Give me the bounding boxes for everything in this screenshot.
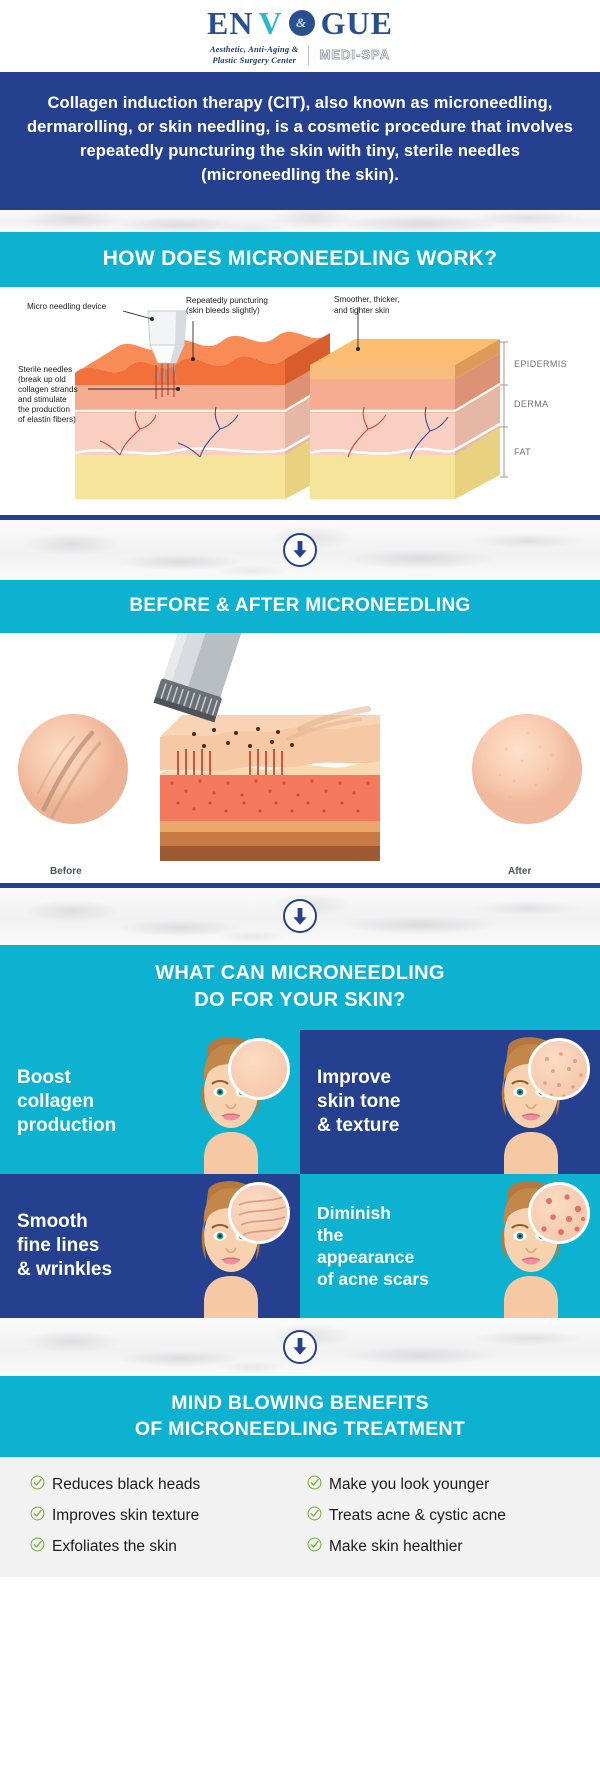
list-item-label: Improves skin texture — [52, 1507, 199, 1525]
skin-zoom-bubble-pores — [528, 1038, 590, 1100]
list-item-label: Exfoliates the skin — [52, 1538, 177, 1556]
section-heading-line2: OF MICRONEEDLING TREATMENT — [14, 1416, 586, 1442]
logo-monogram-icon: & — [289, 10, 315, 36]
section-heading-line2: DO FOR YOUR SKIN? — [14, 987, 586, 1014]
logo-tagline-line2: Plastic Surgery Center — [210, 55, 299, 66]
benefits-checklist: Reduces black heads Make you look younge… — [0, 1457, 600, 1577]
check-circle-icon — [30, 1506, 45, 1526]
caption-after: After — [508, 866, 531, 877]
label-derma: DERMA — [514, 399, 549, 409]
brand-header: EN V & GUE Aesthetic, Anti-Aging & Plast… — [0, 0, 600, 72]
caption-before: Before — [50, 866, 82, 877]
list-item-label: Make skin healthier — [329, 1538, 463, 1556]
down-arrow-icon[interactable] — [283, 533, 317, 567]
benefit-line-3: & texture — [317, 1114, 400, 1138]
scroll-arrow-3[interactable] — [0, 1318, 600, 1376]
section-heading-how-it-works: HOW DOES MICRONEEDLING WORK? — [0, 232, 600, 287]
marble-divider-1 — [0, 210, 600, 232]
marble-divider-3 — [0, 888, 600, 945]
marble-divider-2 — [0, 520, 600, 580]
list-item: Reduces black heads — [30, 1475, 297, 1495]
before-after-svg — [0, 633, 600, 883]
benefit-line-2: collagen — [17, 1090, 116, 1114]
benefit-line-1: Diminish — [317, 1202, 429, 1224]
logo-subtitle-row: Aesthetic, Anti-Aging & Plastic Surgery … — [207, 44, 393, 66]
benefit-card-diminish-acne-scars[interactable]: Diminish the appearance of acne scars — [300, 1174, 600, 1318]
benefit-card-improve-skin-tone[interactable]: Improve skin tone & texture — [300, 1030, 600, 1174]
scroll-arrow-2[interactable] — [0, 888, 600, 945]
label-smoother-skin-2: and tighter skin — [334, 306, 390, 317]
benefit-line-3: & wrinkles — [17, 1258, 112, 1282]
benefit-line-2: fine lines — [17, 1234, 112, 1258]
benefit-line-4: of acne scars — [317, 1268, 429, 1290]
benefit-line-2: the — [317, 1224, 429, 1246]
list-item: Make skin healthier — [307, 1537, 574, 1557]
skin-diagram-svg — [0, 287, 600, 515]
benefit-line-1: Improve — [317, 1066, 400, 1090]
label-sterile-needles-6: of elastin fibers) — [18, 415, 76, 426]
label-fat: FAT — [514, 447, 531, 457]
benefit-line-1: Smooth — [17, 1210, 112, 1234]
list-item-label: Reduces black heads — [52, 1476, 200, 1494]
list-item-label: Make you look younger — [329, 1476, 489, 1494]
logo-tagline-line1: Aesthetic, Anti-Aging & — [210, 44, 299, 55]
benefit-card-smooth-fine-lines[interactable]: Smooth fine lines & wrinkles — [0, 1174, 300, 1318]
benefits-checklist-grid: Reduces black heads Make you look younge… — [0, 1475, 600, 1557]
logo-wordmark: EN V & GUE — [207, 7, 393, 39]
marble-divider-4 — [0, 1318, 600, 1376]
skin-zoom-bubble-acne — [528, 1182, 590, 1244]
label-repeatedly-puncturing-2: (skin bleeds slightly) — [186, 306, 260, 317]
list-item: Treats acne & cystic acne — [307, 1506, 574, 1526]
check-circle-icon — [30, 1537, 45, 1557]
check-circle-icon — [307, 1475, 322, 1495]
benefit-card-label: Diminish the appearance of acne scars — [300, 1202, 429, 1290]
section-heading-line1: WHAT CAN MICRONEEDLING — [14, 960, 586, 987]
logo-text-gue: GUE — [321, 7, 393, 39]
section-heading-line1: MIND BLOWING BENEFITS — [14, 1390, 586, 1416]
down-arrow-icon[interactable] — [283, 1330, 317, 1364]
benefit-line-2: skin tone — [317, 1090, 400, 1114]
benefit-cards-grid: Boost collagen production — [0, 1030, 600, 1318]
label-smoother-skin-1: Smoother, thicker, — [334, 295, 400, 306]
section-heading-mind-blowing-benefits: MIND BLOWING BENEFITS OF MICRONEEDLING T… — [0, 1376, 600, 1458]
benefit-line-3: production — [17, 1114, 116, 1138]
benefit-card-label: Boost collagen production — [0, 1066, 116, 1138]
infographic-page: EN V & GUE Aesthetic, Anti-Aging & Plast… — [0, 0, 600, 1780]
logo-tagline: Aesthetic, Anti-Aging & Plastic Surgery … — [210, 44, 299, 66]
list-item: Exfoliates the skin — [30, 1537, 297, 1557]
logo: EN V & GUE Aesthetic, Anti-Aging & Plast… — [207, 7, 393, 66]
list-item-label: Treats acne & cystic acne — [329, 1507, 506, 1525]
section-heading-what-can-do: WHAT CAN MICRONEEDLING DO FOR YOUR SKIN? — [0, 945, 600, 1030]
logo-text-v: V — [259, 7, 283, 39]
down-arrow-icon[interactable] — [283, 899, 317, 933]
label-micro-needling-device: Micro needling device — [27, 302, 106, 313]
before-after-illustration: Before After — [0, 633, 600, 883]
check-circle-icon — [30, 1475, 45, 1495]
check-circle-icon — [307, 1537, 322, 1557]
label-epidermis: EPIDERMIS — [514, 359, 567, 369]
check-circle-icon — [307, 1506, 322, 1526]
benefit-card-label: Improve skin tone & texture — [300, 1066, 400, 1138]
scroll-arrow-1[interactable] — [0, 520, 600, 580]
skin-zoom-bubble-smooth — [228, 1038, 290, 1100]
benefit-line-1: Boost — [17, 1066, 116, 1090]
intro-paragraph: Collagen induction therapy (CIT), also k… — [0, 72, 600, 210]
benefit-card-label: Smooth fine lines & wrinkles — [0, 1210, 112, 1282]
logo-divider — [308, 45, 309, 65]
benefit-line-3: appearance — [317, 1246, 429, 1268]
list-item: Improves skin texture — [30, 1506, 297, 1526]
list-item: Make you look younger — [307, 1475, 574, 1495]
benefit-card-boost-collagen[interactable]: Boost collagen production — [0, 1030, 300, 1174]
skin-diagram: Micro needling device Repeatedly punctur… — [0, 287, 600, 515]
logo-text-en: EN — [207, 7, 253, 39]
logo-medispa-text: MEDI-SPA — [319, 48, 390, 61]
skin-zoom-bubble-wrinkles — [228, 1182, 290, 1244]
section-heading-before-after: BEFORE & AFTER MICRONEEDLING — [0, 580, 600, 633]
